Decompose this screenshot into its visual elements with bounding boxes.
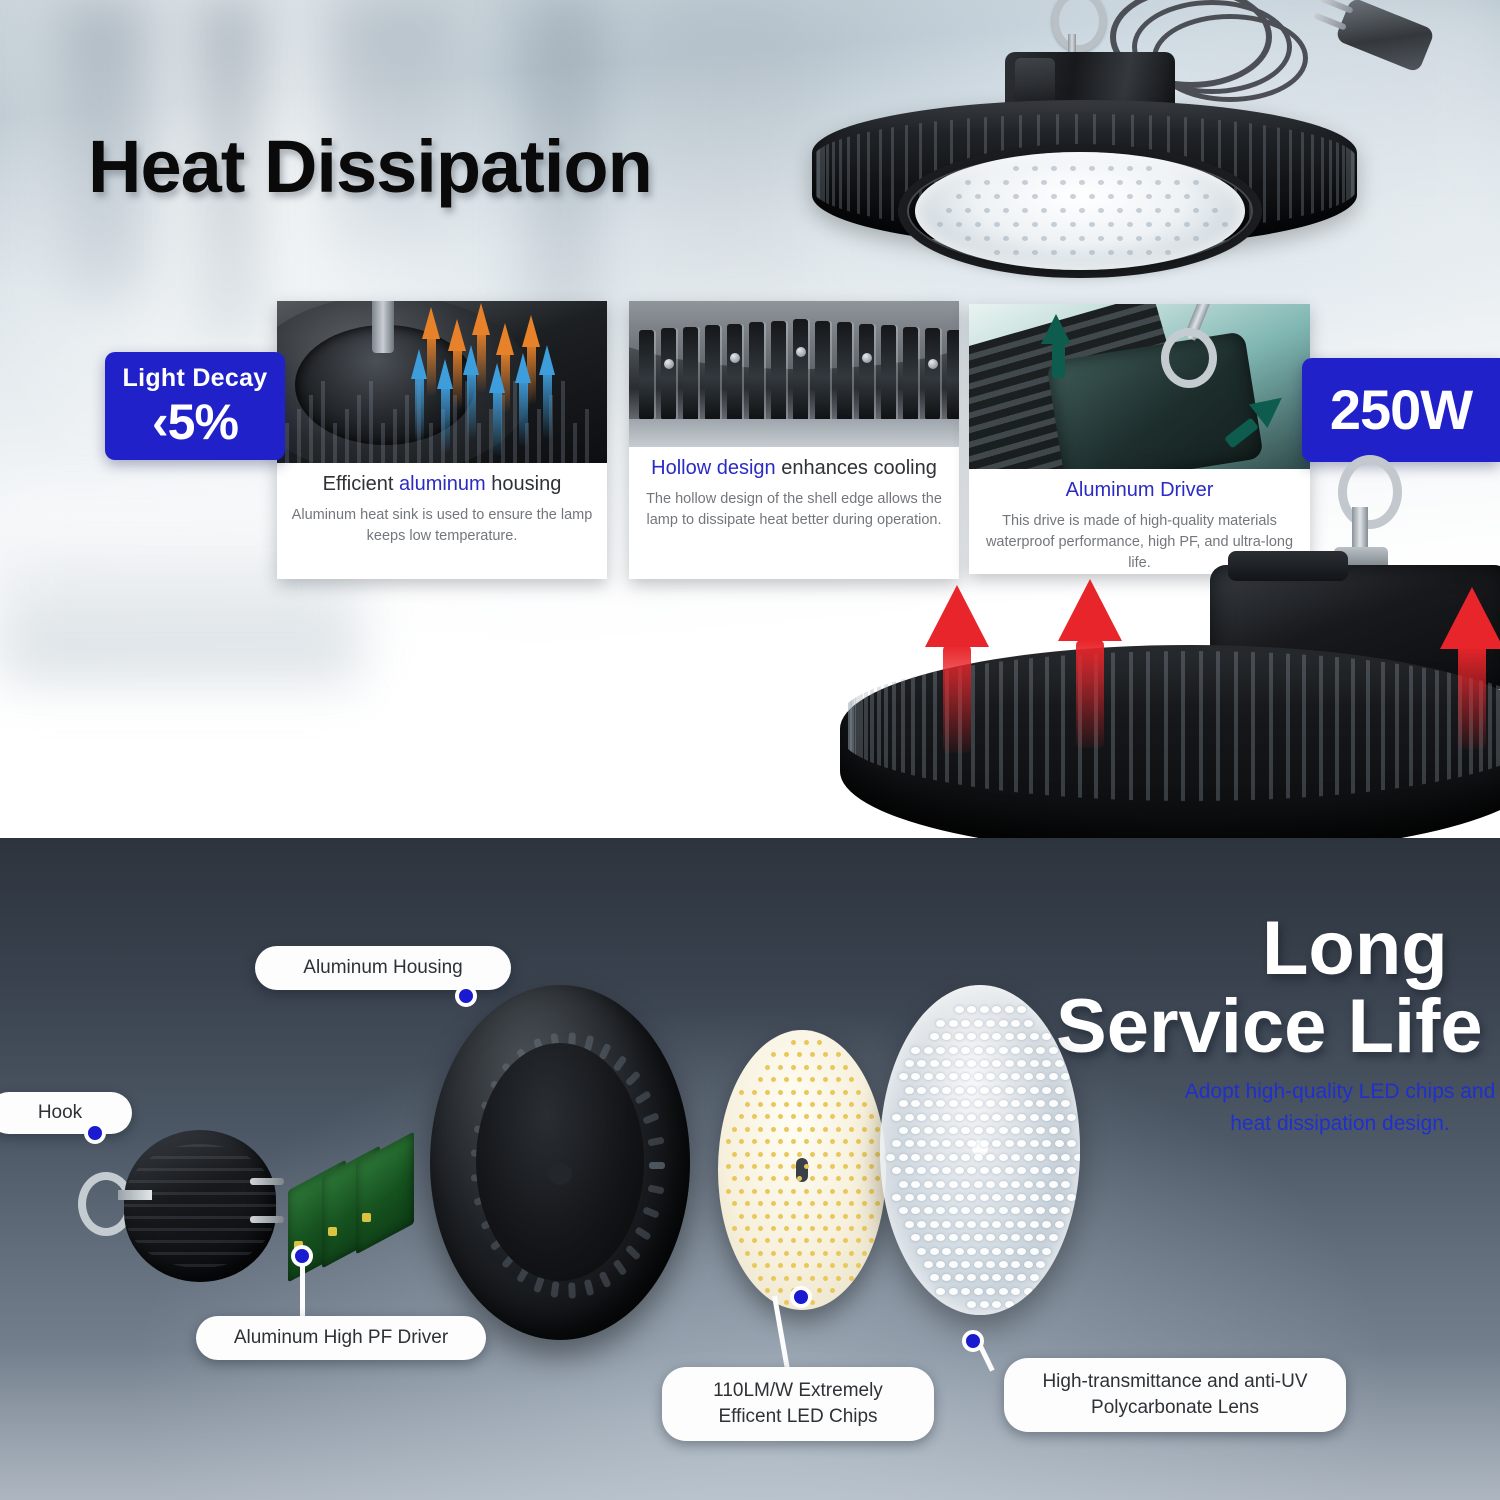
callout-aluminum-housing[interactable]: Aluminum Housing [255,946,511,990]
heat-arrow-tail [1076,640,1104,748]
wattage-badge: 250W [1302,358,1500,462]
feature-card-title: Efficient aluminum housing [323,472,562,496]
callout-aluminum-high-pf-driver[interactable]: Aluminum High PF Driver [196,1316,486,1360]
callout-polycarbonate-lens[interactable]: High-transmittance and anti-UV Polycarbo… [1004,1358,1346,1432]
heat-arrow-icon [1440,587,1500,649]
product-infographic: Heat Dissipation [0,0,1500,1500]
heat-dissipation-section: Heat Dissipation [0,0,1500,838]
hanger-ring-icon [1338,455,1402,529]
feature-card-image [629,301,959,447]
wattage-value: 250W [1330,382,1472,438]
feature-card-image [277,301,607,463]
long-service-life-title-line2: Service Life [1056,990,1483,1064]
light-decay-label: Light Decay [123,366,268,391]
feature-card-body: Aluminum heat sink is used to ensure the… [277,505,607,547]
feature-card-aluminum-housing[interactable]: Efficient aluminum housing Aluminum heat… [277,301,607,579]
light-decay-value: ‹5% [152,397,238,447]
housing-center-nub [548,1163,572,1185]
heat-arrow-tail [1458,645,1486,749]
green-arrow-icon [1041,314,1071,344]
heat-arrow-tail [943,645,971,753]
heatsink-airflow-photo [277,301,607,463]
pcb-driver-board-part [288,1145,428,1300]
callout-dot-led [790,1286,812,1308]
callout-dot-hook [84,1122,106,1144]
heat-arrow-icon [925,585,989,647]
callout-dot-lens [962,1330,984,1352]
heat-arrow-icon [1058,579,1122,641]
long-service-life-title-line1: Long [1262,912,1448,986]
led-chip-board-part [718,1030,886,1310]
callout-dot-housing [455,985,477,1007]
long-service-life-subtitle: Adopt high-quality LED chips and heat di… [1180,1076,1500,1139]
feature-card-caption: Efficient aluminum housing Aluminum heat… [277,463,607,579]
aluminum-driver-photo [969,304,1310,469]
cooling-fins [840,651,1500,801]
callout-led-chips[interactable]: 110LM/W Extremely Efficent LED Chips [662,1367,934,1441]
feature-card-image [969,304,1310,469]
hollow-fins-photo [629,301,959,447]
callout-dot-driver [291,1245,313,1267]
heatsink-closeup-image [840,455,1500,838]
light-decay-badge: Light Decay ‹5% [105,352,285,460]
polycarbonate-lens-part [880,985,1080,1315]
hook-end-cap-part [110,1120,290,1295]
callout-hook[interactable]: Hook [0,1092,132,1134]
